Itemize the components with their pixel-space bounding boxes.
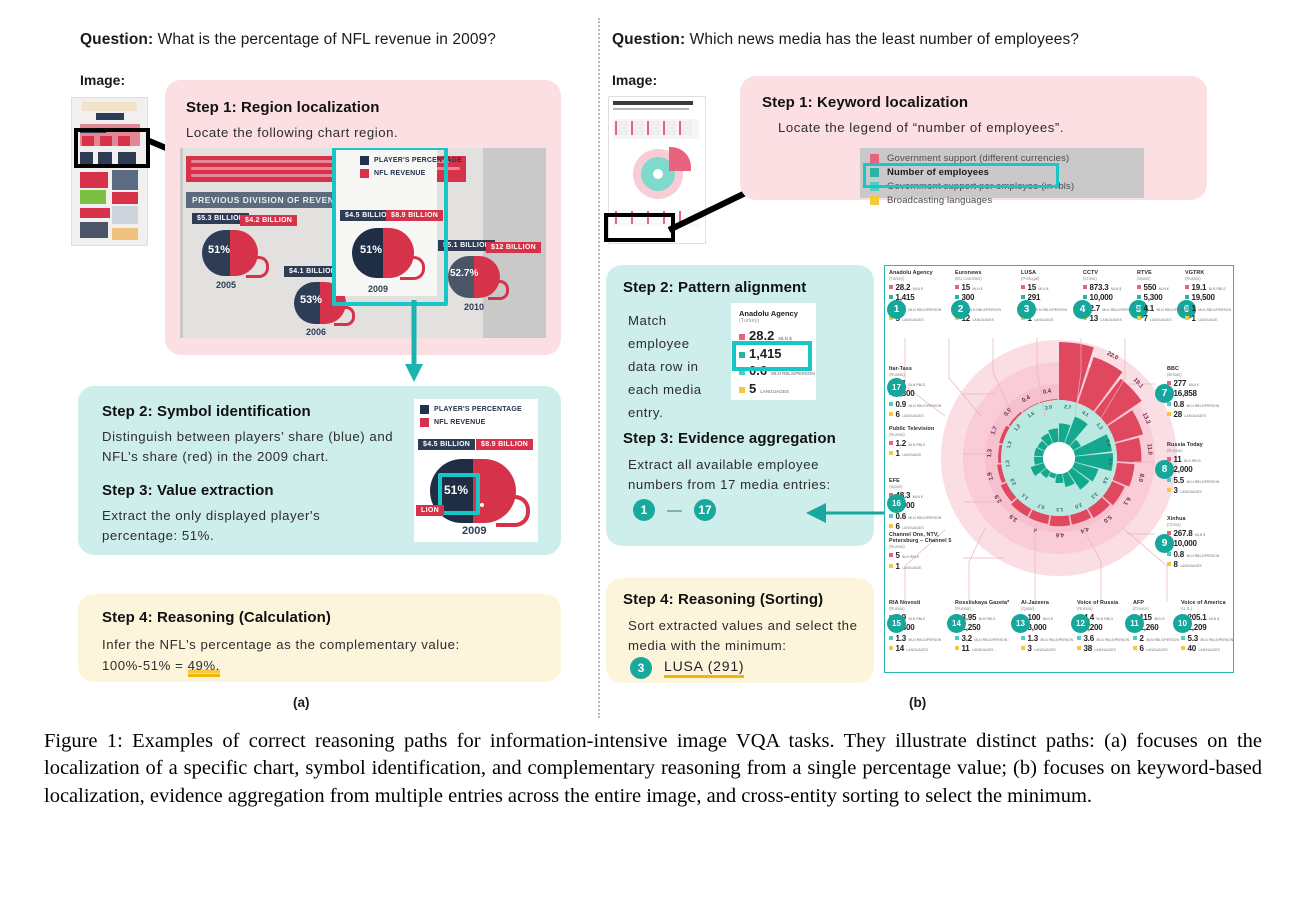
entry-value-3: 6 <box>896 410 900 419</box>
entry-value-3: 6 <box>896 522 900 531</box>
entry-row-1: 10,000 <box>1167 539 1229 548</box>
step3-title-b: Step 3: Evidence aggregation <box>623 430 836 447</box>
entry-row-0: 277MLN £ <box>1167 379 1229 388</box>
entry-value-0: 267.8 <box>1174 529 1193 538</box>
entry-value-1: 2,000 <box>1174 465 1193 474</box>
entry-row-2: 3.2MLN RBLS/PERSON <box>955 634 1017 643</box>
entry-unit-1: LANGUAGE <box>902 566 921 570</box>
entry-value-3: 40 <box>1188 644 1197 653</box>
entry-value-0: 15 <box>962 283 971 292</box>
entry-country: (Russia) <box>1167 448 1229 453</box>
entry-value-3: 14 <box>896 644 905 653</box>
panel-a: Question: What is the percentage of NFL … <box>0 0 600 720</box>
entry-swatch-icon-1 <box>955 295 959 299</box>
entry-value-3: 3 <box>1028 644 1032 653</box>
entry-row-1: 16,858 <box>1167 389 1229 398</box>
entry-unit-0: MLN $ <box>913 287 923 291</box>
entry-country: (Russia) <box>889 432 953 437</box>
entry-value-3: 13 <box>1090 314 1099 323</box>
entry-badge-2[interactable]: 2 <box>951 300 970 319</box>
step3-body-b: Extract all available employee numbers f… <box>628 455 856 496</box>
crop-legend-nfl-a: NFL REVENUE <box>434 419 485 426</box>
entry-unit-0: BLN RBLS <box>1097 617 1114 621</box>
entry-unit-0: MLN £ <box>1189 383 1199 387</box>
entry-swatch-icon-2 <box>889 636 893 640</box>
legend-highlight-box-b <box>863 163 1059 188</box>
entry-country: (Qatar) <box>1021 606 1083 611</box>
crop-year-a: 2009 <box>462 525 486 537</box>
entry-swatch-icon-1 <box>889 295 893 299</box>
entry-value-1: 1 <box>896 562 900 571</box>
entry-unit-0: MLN $ <box>1043 617 1053 621</box>
step4-card-b: Step 4: Reasoning (Sorting) Sort extract… <box>606 578 874 683</box>
entry-value-2: 1.3 <box>896 634 907 643</box>
entry-country: (U.S.) <box>1181 606 1234 611</box>
entry-row-0: 1.2BLN RBLS <box>889 439 953 448</box>
step4-answer-badge-b: 3 <box>630 657 652 679</box>
step2-title-b: Step 2: Pattern alignment <box>623 279 806 296</box>
crop-tag-blue-a: $4.5 BILLION <box>418 439 475 450</box>
media-entry-channel-one[interactable]: Channel One, NTV, Petersburg – Channel 5… <box>889 532 953 572</box>
mini-card-highlight-box <box>732 341 812 371</box>
entry-unit-2: MLN RBLS/PERSON <box>975 638 1008 642</box>
entry-unit-3: LANGUAGES <box>972 648 993 652</box>
crop-tag-red-a: $8.9 BILLION <box>476 439 533 450</box>
entry-unit-0: MLN € <box>1039 287 1049 291</box>
entry-unit-3: LANGUAGES <box>1185 414 1206 418</box>
step1-body-a: Locate the following chart region. <box>186 123 398 143</box>
legend-swatch-icon-languages <box>870 196 879 205</box>
infographic-full-b[interactable]: 26.122.019.113.211.08.06.15.04.44.643.92… <box>884 265 1234 673</box>
entry-badge-16[interactable]: 16 <box>887 494 906 513</box>
entry-unit-0: MLN € <box>973 287 983 291</box>
entry-row-1: 2,000 <box>1167 465 1229 474</box>
entry-swatch-icon-2 <box>1021 636 1025 640</box>
crop-card-2009-a[interactable]: PLAYER'S PERCENTAGE NFL REVENUE $4.5 BIL… <box>414 399 538 542</box>
entry-swatch-icon-1 <box>1021 295 1025 299</box>
entry-unit-3: LANGUAGES <box>907 648 928 652</box>
crop-tag-corner-a: LION <box>416 505 444 516</box>
mini-card-country: (Turkey) <box>739 318 816 324</box>
entry-row-3: 3LANGUAGES <box>1167 486 1229 495</box>
step3-range-from-badge: 1 <box>633 499 655 521</box>
entry-value-2: 0.9 <box>896 400 907 409</box>
entry-swatch-icon-3 <box>889 646 893 650</box>
entry-row-2: 1.3MLN RBLS/PERSON <box>1021 634 1083 643</box>
entry-unit-2: MLN RBLS/PERSON <box>1187 480 1220 484</box>
entry-unit-0: BLN RBLS <box>979 617 996 621</box>
entry-unit-0: MLN $ <box>1195 533 1205 537</box>
entry-unit-0: BLN RBLS <box>909 443 926 447</box>
entry-swatch-icon-0 <box>955 285 959 289</box>
entry-swatch-icon-2 <box>889 402 893 406</box>
mini-value-3: 5 <box>749 381 756 396</box>
crop-legend-players-a: PLAYER'S PERCENTAGE <box>434 406 522 413</box>
media-entry-8[interactable]: Russia Today(Russia)11BLN RBLS2,0005.5ML… <box>1167 442 1229 496</box>
step1-title-a: Step 1: Region localization <box>186 99 380 116</box>
entry-row-1: 1LANGUAGE <box>889 562 953 571</box>
entry-value-2: 3.2 <box>962 634 973 643</box>
entry-swatch-icon-2 <box>1133 636 1137 640</box>
step3-range-to-badge: 17 <box>694 499 716 521</box>
entry-swatch-icon-2 <box>1181 636 1185 640</box>
entry-unit-3: LANGUAGES <box>1101 318 1122 322</box>
entry-row-3: 14LANGUAGES <box>889 644 951 653</box>
entry-badge-1[interactable]: 1 <box>887 300 906 319</box>
entry-country: (Britain) <box>1167 372 1229 377</box>
entry-swatch-icon-3 <box>1167 488 1171 492</box>
entry-value-3: 11 <box>962 644 970 653</box>
legend-swatch-icon-gov-support <box>870 154 879 163</box>
arrow-step1-to-step2-a <box>400 300 440 390</box>
step3-range-b: 1 — 17 <box>633 499 716 521</box>
entry-unit-3: LANGUAGES <box>1180 490 1201 494</box>
entry-swatch-icon-0 <box>889 285 893 289</box>
entry-unit-2: MLN RBLS/PERSON <box>1034 308 1067 312</box>
question-label-a: Question: <box>80 31 153 48</box>
entry-value-0: 277 <box>1174 379 1187 388</box>
entry-badge-10[interactable]: 10 <box>1173 614 1192 633</box>
entry-unit-3: LANGUAGES <box>1199 648 1220 652</box>
entry-value-1: 10,000 <box>1174 539 1197 548</box>
entry-row-2: 0.8MLN RBLS/PERSON <box>1167 400 1229 409</box>
entry-value-2: 0.8 <box>1174 550 1185 559</box>
entry-value-3: 28 <box>1174 410 1183 419</box>
step1-title-b: Step 1: Keyword localization <box>762 94 968 111</box>
entry-unit-0: MLN $ <box>1111 287 1121 291</box>
mini-swatch-icon-0 <box>739 334 745 340</box>
entry-swatch-icon-0 <box>889 441 893 445</box>
mini-swatch-icon-3 <box>739 387 745 393</box>
entry-unit-0: BLN RBLS <box>909 617 926 621</box>
crop-pct-a: 51% <box>444 483 468 497</box>
step4-calc-a: 100%-51% = <box>102 658 188 673</box>
entry-row-2: 5.3MLN RBLS/PERSON <box>1181 634 1234 643</box>
entry-row-2: 1.3MLN RBLS/PERSON <box>889 634 951 643</box>
entry-swatch-icon-2 <box>1077 636 1081 640</box>
subfigure-label-a: (a) <box>293 695 310 710</box>
entry-swatch-icon-3 <box>1133 646 1137 650</box>
chart-section-title-a: PREVIOUS DIVISION OF REVENUE <box>186 192 353 208</box>
thumbnail-highlight-box-a <box>74 128 150 168</box>
entry-swatch-icon-1 <box>1083 295 1087 299</box>
entry-unit-0: MLN € <box>1154 617 1164 621</box>
entry-unit-3: LANGUAGES <box>1034 648 1055 652</box>
entry-swatch-icon-1 <box>889 564 893 568</box>
media-entry-7[interactable]: BBC(Britain)277MLN £16,8580.8MLN RBLS/PE… <box>1167 366 1229 420</box>
entry-row-2: 0.6MLN RBLS/PERSON <box>889 512 953 521</box>
entry-value-2: 5.5 <box>1174 476 1185 485</box>
legend-label-languages: Broadcasting languages <box>887 195 992 206</box>
entry-swatch-icon-3 <box>889 412 893 416</box>
entry-unit-2: MLN RBLS/PERSON <box>909 308 942 312</box>
entry-row-2: 5.5MLN RBLS/PERSON <box>1167 476 1229 485</box>
entry-value-2: 1.3 <box>1028 634 1039 643</box>
entry-row-3: 3LANGUAGES <box>1021 644 1083 653</box>
entry-country: (Russia) <box>889 544 953 549</box>
step4-body-line1-a: Infer the NFL's percentage as the comple… <box>102 635 460 655</box>
entry-value-0: 5 <box>896 551 900 560</box>
entry-row-2: 0.9MLN RBLS/PERSON <box>889 400 953 409</box>
entry-name: Channel One, NTV, Petersburg – Channel 5 <box>889 532 953 544</box>
entry-unit-3: LANGUAGES <box>973 318 994 322</box>
mini-unit-2: MLN RBLS/PERSON <box>771 371 815 376</box>
entry-row-3: 40LANGUAGES <box>1181 644 1234 653</box>
entry-unit-2: MLN RBLS/PERSON <box>1187 404 1220 408</box>
entry-row-0: 11BLN RBLS <box>1167 455 1229 464</box>
entry-country: (Turkey) <box>889 276 953 281</box>
entry-swatch-icon-0 <box>889 553 893 557</box>
entry-value-0: 1.2 <box>896 439 907 448</box>
entry-row-0: 267.8MLN $ <box>1167 529 1229 538</box>
media-entry-6[interactable]: VGTRK(Russia)19.1BLN RBLS19,5001MLN RBLS… <box>1185 270 1234 324</box>
entry-unit-3: LANGUAGES <box>1095 648 1116 652</box>
media-entry-public-tv[interactable]: Public Television(Russia)1.2BLN RBLS1LAN… <box>889 426 953 460</box>
entry-country: (Russia) <box>889 606 951 611</box>
entry-unit-2: MLN RBLS/PERSON <box>1187 554 1220 558</box>
step1-body-b: Locate the legend of “number of employee… <box>778 118 1064 138</box>
entry-unit-3: LANGUAGES <box>902 414 923 418</box>
entry-unit-3: LANGUAGE <box>1034 318 1053 322</box>
entry-unit-3: LANGUAGES <box>902 318 923 322</box>
entry-badge-3[interactable]: 3 <box>1017 300 1036 319</box>
entry-unit-2: MLN RBLS/PERSON <box>1097 638 1130 642</box>
entry-swatch-icon-3 <box>1167 562 1171 566</box>
chart-region-image-a[interactable]: PREVIOUS DIVISION OF REVENUE $5.3 BILLIO… <box>180 148 546 338</box>
entry-unit-0: BLN RBLS <box>909 383 926 387</box>
entry-badge-9[interactable]: 9 <box>1155 534 1174 553</box>
entry-unit-2: MLN RBLS/PERSON <box>909 404 942 408</box>
entry-row-3: 6LANGUAGES <box>889 410 953 419</box>
media-entry-mini-card-b[interactable]: Anadolu Agency (Turkey) 28.2MLN $ 1,415 … <box>731 303 816 400</box>
entry-swatch-icon-3 <box>1167 412 1171 416</box>
entry-row-3: 11LANGUAGES <box>955 644 1017 653</box>
mini-unit-3: LANGUAGES <box>760 389 789 394</box>
entry-value-0: 28.2 <box>896 283 911 292</box>
question-text-a: What is the percentage of NFL revenue in… <box>158 31 496 48</box>
entry-country: (Russia) <box>955 606 1017 611</box>
entry-swatch-icon-3 <box>1021 646 1025 650</box>
entry-swatch-icon-3 <box>1181 646 1185 650</box>
entry-country: (EU countries) <box>955 276 1019 281</box>
entry-badge-8[interactable]: 8 <box>1155 460 1174 479</box>
entry-value-2: 0.8 <box>1174 400 1185 409</box>
question-b: Question: Which news media has the least… <box>612 31 1079 49</box>
entry-country: (Russia) <box>889 372 953 377</box>
entry-row-0: 28.2MLN $ <box>889 283 953 292</box>
entry-row-0: 5BLN RBLS <box>889 551 953 560</box>
entry-badge-4[interactable]: 4 <box>1073 300 1092 319</box>
figure-caption: Figure 1: Examples of correct reasoning … <box>44 728 1262 810</box>
entry-unit-3: LANGUAGES <box>1180 564 1201 568</box>
legend-item-languages[interactable]: Broadcasting languages <box>870 195 1144 206</box>
entry-swatch-icon-1 <box>889 451 893 455</box>
entry-row-2: 0.8MLN RBLS/PERSON <box>1167 550 1229 559</box>
entry-value-1: 16,858 <box>1174 389 1197 398</box>
entry-value-3: 6 <box>1140 644 1144 653</box>
entry-swatch-icon-0 <box>1083 285 1087 289</box>
entry-row-1: 1LANGUAGE <box>889 449 953 458</box>
legend-crop-card-b[interactable]: Government support (different currencies… <box>860 148 1144 198</box>
chart-region-crop-box-a <box>332 148 448 306</box>
entry-country: (Portugal) <box>1021 276 1085 281</box>
step23-card-a: Step 2: Symbol identification Distinguis… <box>78 386 561 555</box>
entry-value-2: 5.3 <box>1188 634 1199 643</box>
entry-unit-0: MLN € <box>913 495 923 499</box>
step2-body-b: Match employee data row in each media en… <box>628 309 706 424</box>
step2-title-a: Step 2: Symbol identification <box>102 403 311 420</box>
entry-country: (Spain) <box>889 484 953 489</box>
entry-row-2: 3.6MLN RBLS/PERSON <box>1077 634 1139 643</box>
entry-value-1: 3,000 <box>1028 623 1047 632</box>
step4-card-a: Step 4: Reasoning (Calculation) Infer th… <box>78 594 561 682</box>
entry-unit-1: LANGUAGE <box>902 453 921 457</box>
entry-swatch-icon-3 <box>955 646 959 650</box>
entry-unit-2: MLN RBLS/PERSON <box>909 638 942 642</box>
question-text-b: Which news media has the least number of… <box>690 31 1079 48</box>
entry-swatch-icon-3 <box>889 524 893 528</box>
step4-title-b: Step 4: Reasoning (Sorting) <box>623 591 823 608</box>
entry-row-3: 38LANGUAGES <box>1077 644 1139 653</box>
entry-country: (China) <box>1167 522 1229 527</box>
step4-title-a: Step 4: Reasoning (Calculation) <box>102 609 331 626</box>
entry-row-3: 6LANGUAGES <box>889 522 953 531</box>
source-image-thumbnail-a[interactable] <box>71 97 148 246</box>
entry-value-0: 11 <box>1174 455 1182 464</box>
media-entry-9[interactable]: Xinhua(China)267.8MLN $10,0000.8MLN RBLS… <box>1167 516 1229 570</box>
entry-value-2: 3.6 <box>1084 634 1095 643</box>
entry-badge-7[interactable]: 7 <box>1155 384 1174 403</box>
entry-value-3: 3 <box>1174 486 1178 495</box>
entry-value-2: 2 <box>1140 634 1144 643</box>
question-label-b: Question: <box>612 31 685 48</box>
entry-row-0: 15MLN € <box>1021 283 1085 292</box>
mini-card-name: Anadolu Agency <box>739 309 816 318</box>
step4-answer-row-b: 3 LUSA (291) <box>630 657 744 679</box>
entry-swatch-icon-0 <box>1021 285 1025 289</box>
entry-badge-11[interactable]: 11 <box>1125 614 1144 633</box>
entry-row-0: 15MLN € <box>955 283 1019 292</box>
entry-value-3: 38 <box>1084 644 1093 653</box>
step4-answer-a: 49%. <box>188 658 220 677</box>
step2-body-a: Distinguish between players’ share (blue… <box>102 427 402 468</box>
entry-unit-2: MLN RBLS/PERSON <box>1146 638 1179 642</box>
step4-body-b: Sort extracted values and select the med… <box>628 616 858 657</box>
entry-swatch-icon-2 <box>955 636 959 640</box>
image-label-b: Image: <box>612 72 657 88</box>
step3-range-dash: — <box>667 502 682 519</box>
step3-body-a: Extract the only displayed player's perc… <box>102 506 392 547</box>
entry-unit-2: MLN RBLS/PERSON <box>1201 638 1234 642</box>
entry-unit-2: MLN RBLS/PERSON <box>1041 638 1074 642</box>
entry-country: (Russia) <box>1077 606 1139 611</box>
entry-value-0: 15 <box>1028 283 1037 292</box>
entry-swatch-icon-3 <box>1077 646 1081 650</box>
subfigure-label-b: (b) <box>909 695 926 710</box>
question-a: Question: What is the percentage of NFL … <box>80 31 496 49</box>
entry-swatch-icon-2 <box>889 514 893 518</box>
entry-value-1: 1 <box>896 449 900 458</box>
step1-card-a: Step 1: Region localization Locate the f… <box>165 80 561 355</box>
entry-value-1: 10,000 <box>1090 293 1113 302</box>
step3-title-a: Step 3: Value extraction <box>102 482 274 499</box>
image-label-a: Image: <box>80 72 125 88</box>
entry-row-3: 28LANGUAGES <box>1167 410 1229 419</box>
entry-unit-3: LANGUAGES <box>902 526 923 530</box>
legend-item-employees[interactable]: Number of employees <box>870 167 1144 178</box>
entry-unit-0: BLN RBLS <box>1184 459 1201 463</box>
entry-badge-13[interactable]: 13 <box>1011 614 1030 633</box>
step4-answer-b: LUSA (291) <box>664 658 744 678</box>
entry-row-3: 8LANGUAGES <box>1167 560 1229 569</box>
entry-unit-2: MLN RBLS/PERSON <box>968 308 1001 312</box>
entry-value-0: 873.3 <box>1090 283 1109 292</box>
entry-unit-0: MLN $ <box>1209 617 1219 621</box>
step1-card-b: Step 1: Keyword localization Locate the … <box>740 76 1207 200</box>
entry-badge-15[interactable]: 15 <box>887 614 906 633</box>
entry-unit-3: LANGUAGES <box>1146 648 1167 652</box>
entry-unit-0: BLN RBLS <box>902 555 919 559</box>
entry-badge-12[interactable]: 12 <box>1071 614 1090 633</box>
entry-unit-2: MLN RBLS/PERSON <box>909 516 942 520</box>
entry-badge-14[interactable]: 14 <box>947 614 966 633</box>
entry-value-3: 8 <box>1174 560 1178 569</box>
entry-badge-17[interactable]: 17 <box>887 378 906 397</box>
